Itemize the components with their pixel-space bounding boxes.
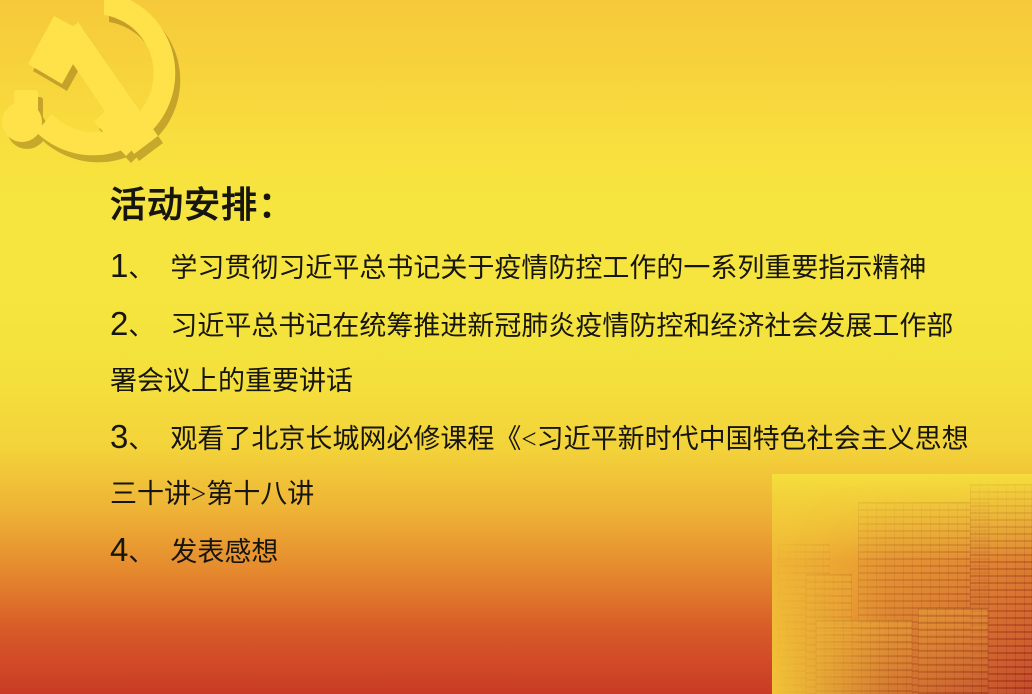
- list-item: 2、习近平总书记在统筹推进新冠肺炎疫情防控和经济社会发展工作部: [110, 296, 990, 354]
- list-item-number: 1: [110, 247, 128, 284]
- presentation-slide: 活动安排： 1、学习贯彻习近平总书记关于疫情防控工作的一系列重要指示精神 2、习…: [0, 0, 1032, 694]
- list-item-text: 发表感想: [170, 537, 278, 567]
- list-item-mark: 、: [128, 425, 170, 454]
- list-item-number: 3: [110, 418, 128, 455]
- list-item-continuation: 署会议上的重要讲话: [110, 354, 990, 409]
- hammer-and-sickle-emblem: [0, 0, 192, 186]
- list-item-number: 2: [110, 305, 128, 342]
- list-item-text: 习近平总书记在统筹推进新冠肺炎疫情防控和经济社会发展工作部: [170, 311, 953, 341]
- list-item: 3、观看了北京长城网必修课程《<习近平新时代中国特色社会主义思想: [110, 409, 990, 467]
- list-item-text: 观看了北京长城网必修课程《<习近平新时代中国特色社会主义思想: [170, 424, 968, 454]
- list-item-number: 4: [110, 531, 128, 568]
- page-title: 活动安排：: [110, 184, 990, 226]
- list-item-continuation: 三十讲>第十八讲: [110, 467, 990, 522]
- list-item-mark: 、: [128, 538, 170, 567]
- list-item: 1、学习贯彻习近平总书记关于疫情防控工作的一系列重要指示精神: [110, 238, 990, 296]
- slide-content: 活动安排： 1、学习贯彻习近平总书记关于疫情防控工作的一系列重要指示精神 2、习…: [110, 184, 990, 580]
- list-item: 4、发表感想: [110, 522, 990, 580]
- list-item-text: 学习贯彻习近平总书记关于疫情防控工作的一系列重要指示精神: [170, 253, 926, 283]
- list-item-mark: 、: [128, 254, 170, 283]
- list-item-mark: 、: [128, 312, 170, 341]
